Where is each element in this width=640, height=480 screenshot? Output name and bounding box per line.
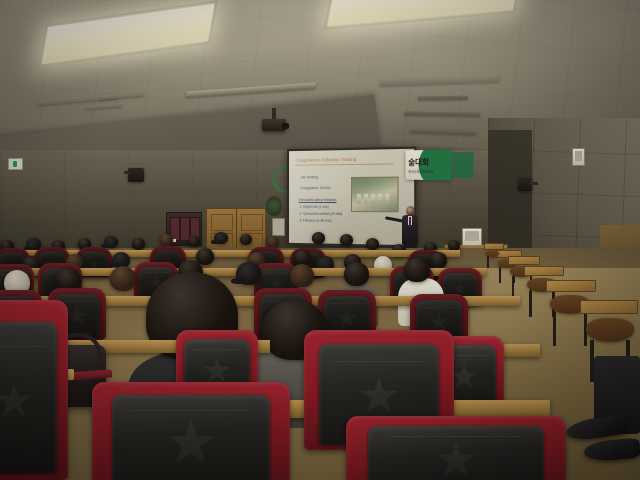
seat-crease bbox=[0, 346, 47, 347]
slide-line-2: Coagulant: FeCl3 bbox=[300, 185, 330, 190]
conference-banner: 술대회 한국수처리공학학회 bbox=[406, 150, 452, 181]
star-emblem-icon: ★ bbox=[66, 305, 88, 329]
seat-shell: ★ bbox=[368, 426, 544, 480]
auditorium-seat-front: ★ bbox=[0, 300, 68, 480]
jar-glyph bbox=[371, 194, 375, 204]
panel-face bbox=[575, 151, 582, 161]
monitor-screen bbox=[465, 231, 479, 241]
audience-head-with-cap bbox=[236, 262, 261, 285]
star-emblem-icon: ★ bbox=[0, 377, 35, 423]
chair-legs bbox=[553, 312, 556, 346]
seat-shell: ★ bbox=[112, 395, 270, 480]
audience-head bbox=[344, 262, 369, 286]
handbag-strap bbox=[68, 369, 112, 380]
door-split-line bbox=[236, 209, 237, 253]
audience-head bbox=[160, 234, 173, 246]
jar-glyph bbox=[357, 194, 361, 204]
audience-head bbox=[188, 236, 200, 247]
projection-screen: Coagulation-Filtration Testing Jar testi… bbox=[287, 147, 416, 248]
jar-glyph bbox=[364, 194, 368, 204]
chair-legs bbox=[487, 256, 489, 268]
slide-bullet: 2. Quiescent contact (20 min) bbox=[299, 212, 342, 216]
wall-speaker-left bbox=[128, 168, 144, 182]
slide-line-1: Jar testing bbox=[300, 174, 318, 179]
chair-seat bbox=[586, 318, 634, 342]
chair-tablet-top bbox=[508, 256, 540, 265]
presenter-head bbox=[406, 206, 415, 216]
slide-bullet: 1. Rapid mix (1 min) bbox=[299, 205, 328, 209]
star-emblem-icon: ★ bbox=[357, 373, 400, 421]
confidence-monitor bbox=[462, 228, 482, 246]
slide-line-3: Simulated direct filtration bbox=[299, 198, 337, 202]
chair-legs bbox=[499, 267, 501, 283]
wall-notice-board bbox=[272, 218, 285, 236]
audience-head bbox=[366, 238, 379, 250]
seat-crease bbox=[447, 278, 474, 279]
star-emblem-icon: ★ bbox=[336, 307, 358, 331]
speaker-bracket bbox=[124, 171, 130, 174]
jar-glyph bbox=[385, 194, 389, 204]
audience-head bbox=[340, 234, 353, 246]
audience-head bbox=[290, 264, 314, 287]
chair-tablet-top bbox=[580, 300, 638, 314]
chair-tablet-top bbox=[546, 280, 596, 292]
seat-crease bbox=[143, 272, 170, 273]
seat-crease bbox=[192, 349, 242, 350]
door-panel bbox=[211, 214, 233, 231]
wall-panel-right bbox=[572, 148, 585, 166]
slide-title: Coagulation-Filtration Testing bbox=[296, 157, 357, 163]
banner-korean-title: 술대회 bbox=[408, 157, 429, 168]
seat-crease bbox=[333, 361, 424, 362]
chair-tablet-top bbox=[484, 243, 504, 250]
star-emblem-icon: ★ bbox=[434, 437, 477, 480]
projected-slide: Coagulation-Filtration Testing Jar testi… bbox=[289, 149, 414, 245]
chair-legs bbox=[529, 291, 532, 317]
auditorium-seat-front: ★ bbox=[92, 382, 290, 480]
banner-korean-subtitle: 한국수처리공학학회 bbox=[408, 169, 433, 174]
speaker-bracket bbox=[530, 182, 538, 185]
slide-title-rule bbox=[295, 163, 394, 165]
audience-head bbox=[132, 238, 145, 250]
exit-sign-icon bbox=[8, 158, 23, 170]
jar-glyph bbox=[378, 194, 382, 204]
seat-crease bbox=[263, 273, 290, 274]
projector-lens-icon bbox=[282, 123, 289, 129]
running-man-glyph bbox=[13, 161, 17, 167]
audience-head bbox=[312, 232, 325, 244]
lecture-hall-photo: Coagulation-Filtration Testing Jar testi… bbox=[0, 0, 640, 480]
slide-photo-jar-test bbox=[351, 177, 399, 213]
banner-green-panel bbox=[453, 152, 474, 178]
door-panel bbox=[241, 214, 263, 231]
audience-head bbox=[240, 234, 252, 245]
audience-head-with-cap bbox=[214, 232, 228, 244]
tablet-arm-chair[interactable] bbox=[484, 243, 504, 269]
chair-legs bbox=[512, 276, 514, 296]
audience-head bbox=[404, 258, 430, 282]
slide-bullet: 3. Filtration (0.45 mm) bbox=[299, 219, 331, 223]
seat-shell: ★ bbox=[0, 322, 57, 473]
audience-head bbox=[110, 266, 136, 291]
potted-plant bbox=[266, 196, 282, 216]
auditorium-seat-front: ★ bbox=[346, 416, 566, 480]
star-emblem-icon: ★ bbox=[164, 413, 218, 473]
presenter-tie bbox=[409, 217, 411, 227]
chair-tablet-top bbox=[524, 266, 564, 276]
